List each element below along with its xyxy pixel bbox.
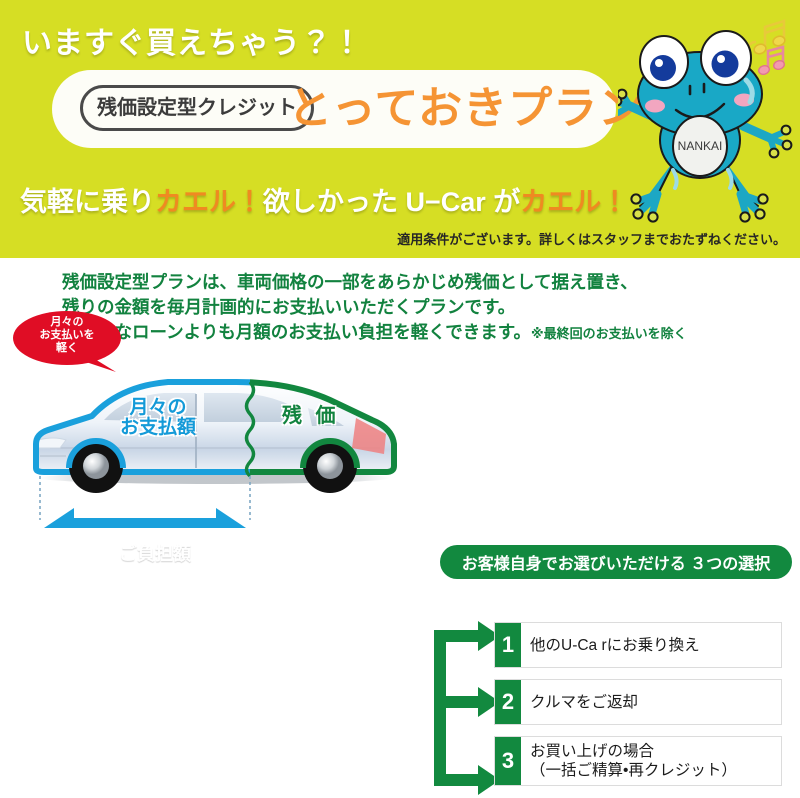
tagline-highlight-1: カエル！ <box>155 187 263 217</box>
car-diagram: 月々の お支払いを 軽く 月々の お支払額 残 価 ご負担額 <box>0 348 440 528</box>
cta-label: お客様自身でお選びいただける ３つの選択 <box>462 550 770 574</box>
option-label-1: 他のU-Ca rにお乗り換え <box>521 636 700 655</box>
option-row-2[interactable]: 2 クルマをご返却 <box>494 679 782 725</box>
option-row-1[interactable]: 1 他のU-Ca rにお乗り換え <box>494 622 782 668</box>
plan-description-footnote: ※最終回のお支払いを除く <box>531 326 687 341</box>
credit-type-badge-label: 残価設定型クレジット <box>97 98 297 118</box>
bracket-arrows-icon <box>432 616 502 796</box>
credit-type-badge: 残価設定型クレジット <box>80 85 314 131</box>
plan-plaque: 残価設定型クレジット とっておきプラン <box>52 70 616 148</box>
tagline-part-2: 欲しかった U−Car が <box>263 187 520 217</box>
plan-description-line-1: 残価設定型プランは、車両価格の一部をあらかじめ残価として据え置き、 <box>62 270 687 295</box>
plan-description: 残価設定型プランは、車両価格の一部をあらかじめ残価として据え置き、 残りの金額を… <box>62 270 687 346</box>
option-number-2: 2 <box>495 680 521 724</box>
option-row-3[interactable]: 3 お買い上げの場合 （一括ご精算•再クレジット） <box>494 736 782 786</box>
plan-description-line-3-main: 一般的なローンよりも月額のお支払い負担を軽くできます。 <box>62 322 531 342</box>
burden-amount-arrow <box>44 508 246 528</box>
tagline-highlight-2: カエル！ <box>520 187 628 217</box>
plan-title: とっておきプラン <box>288 78 643 140</box>
hero-panel: いますぐ買えちゃう？！ 残価設定型クレジット とっておきプラン 気軽に乗りカエル… <box>0 0 800 258</box>
hero-headline: いますぐ買えちゃう？！ <box>22 18 363 62</box>
burden-amount-label: ご負担額 <box>70 540 240 566</box>
frog-mascot-icon: NANKAI <box>618 18 793 233</box>
car-illustration <box>0 348 440 528</box>
options-list: 1 他のU-Ca rにお乗り換え 2 クルマをご返却 3 お買い上げの場合 （一… <box>432 616 788 798</box>
mascot-belly-label: NANKAI <box>678 139 723 153</box>
tagline-part-1: 気軽に乗り <box>20 187 155 217</box>
option-label-2: クルマをご返却 <box>521 693 638 712</box>
plan-description-line-3: 一般的なローンよりも月額のお支払い負担を軽くできます。※最終回のお支払いを除く <box>62 320 687 346</box>
monthly-payment-bubble <box>12 310 122 372</box>
option-number-1: 1 <box>495 623 521 667</box>
cta-pill[interactable]: お客様自身でお選びいただける ３つの選択 <box>440 545 792 579</box>
plan-description-line-2: 残りの金額を毎月計画的にお支払いいただくプランです。 <box>62 295 687 320</box>
promo-banner: いますぐ買えちゃう？！ 残価設定型クレジット とっておきプラン 気軽に乗りカエル… <box>0 0 800 600</box>
option-number-3: 3 <box>495 737 521 785</box>
hero-tagline: 気軽に乗りカエル！欲しかった U−Car がカエル！ <box>20 180 628 219</box>
option-label-3: お買い上げの場合 （一括ご精算•再クレジット） <box>521 742 737 780</box>
